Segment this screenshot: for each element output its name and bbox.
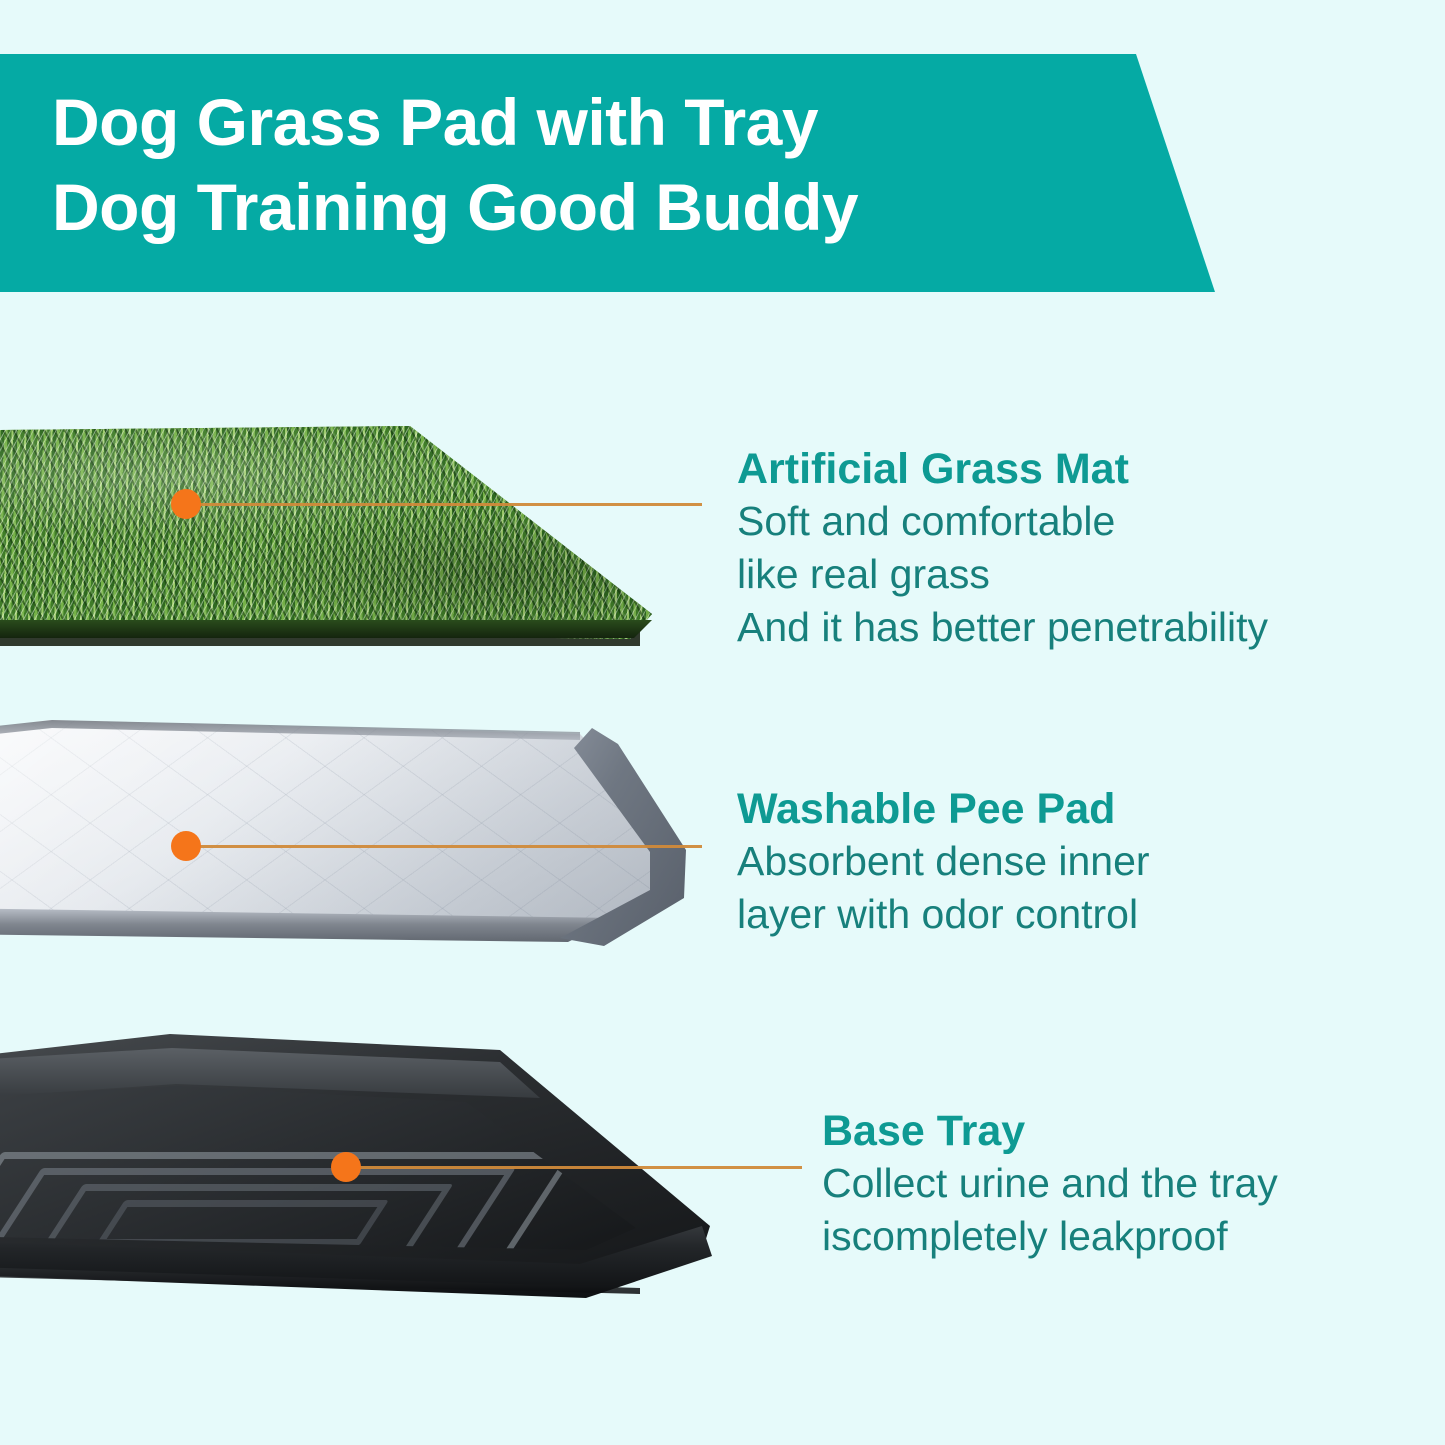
base-tray-image (0, 1030, 740, 1315)
grass-mat-surface (0, 424, 715, 639)
callout-line-artificial-grass-mat-1: Soft and comfortable (737, 495, 1268, 548)
callout-dot-pee-pad (171, 831, 201, 861)
callout-block-artificial-grass-mat: Artificial Grass Mat Soft and comfortabl… (737, 443, 1268, 654)
grass-mat-backing-edge (0, 620, 652, 638)
callout-line-base-tray-2: iscompletely leakproof (822, 1210, 1278, 1263)
callout-title-washable-pee-pad: Washable Pee Pad (737, 783, 1150, 835)
product-infographic: Dog Grass Pad with Tray Dog Training Goo… (0, 0, 1445, 1445)
callout-leader-line-base-tray (350, 1166, 802, 1169)
callout-line-artificial-grass-mat-2: like real grass (737, 548, 1268, 601)
banner-title-line-1: Dog Grass Pad with Tray (52, 85, 818, 159)
callout-dot-grass-mat (171, 489, 201, 519)
callout-leader-line-pee-pad (190, 845, 702, 848)
callout-title-artificial-grass-mat: Artificial Grass Mat (737, 443, 1268, 495)
callout-dot-base-tray (331, 1152, 361, 1182)
callout-line-washable-pee-pad-1: Absorbent dense inner (737, 835, 1150, 888)
banner-title-line-2: Dog Training Good Buddy (52, 165, 1122, 250)
callout-leader-line-grass-mat (190, 503, 702, 506)
base-tray-groove-4 (95, 1200, 389, 1246)
banner-title: Dog Grass Pad with Tray Dog Training Goo… (52, 80, 1122, 250)
callout-block-washable-pee-pad: Washable Pee Pad Absorbent dense inner l… (737, 783, 1150, 941)
callout-line-base-tray-1: Collect urine and the tray (822, 1157, 1278, 1210)
callout-block-base-tray: Base Tray Collect urine and the tray isc… (822, 1105, 1278, 1263)
header-banner: Dog Grass Pad with Tray Dog Training Goo… (0, 54, 1215, 292)
callout-line-washable-pee-pad-2: layer with odor control (737, 888, 1150, 941)
callout-line-artificial-grass-mat-3: And it has better penetrability (737, 601, 1268, 654)
grass-mat-image (0, 424, 715, 669)
callout-title-base-tray: Base Tray (822, 1105, 1278, 1157)
